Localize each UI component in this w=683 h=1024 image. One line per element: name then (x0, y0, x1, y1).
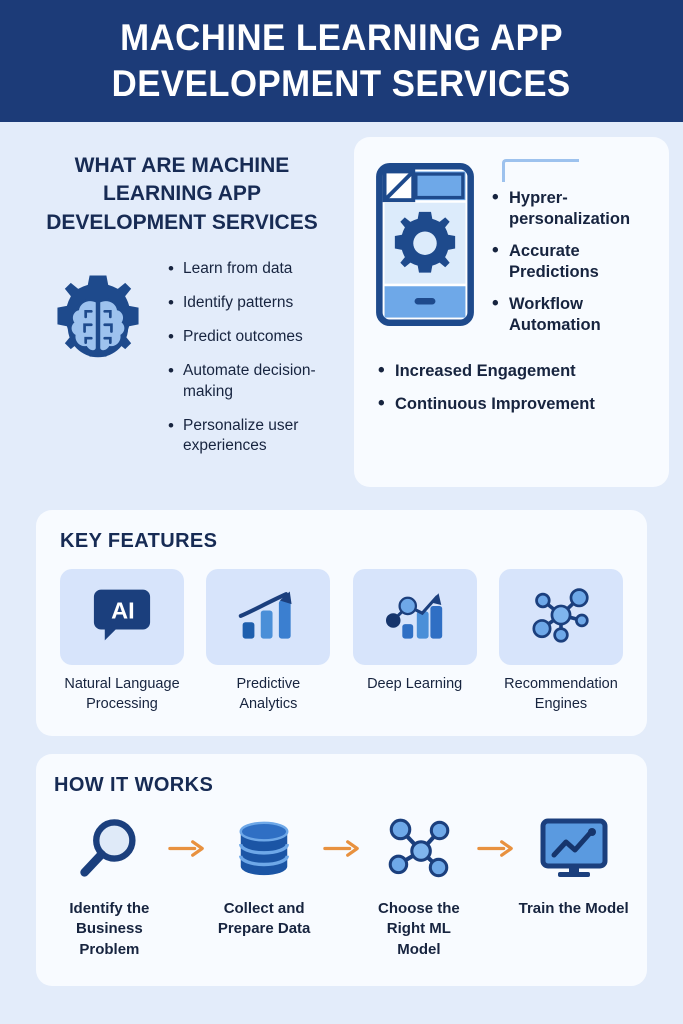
bar-chart-arrow-icon (235, 586, 301, 649)
step-label: Identify the Business Problem (54, 899, 165, 960)
feature-tile: AI (60, 569, 184, 665)
list-item: Learn from data (168, 259, 350, 279)
monitor-chart-icon (539, 818, 609, 885)
key-features-section: KEY FEATURES AI Natural Language Process… (36, 510, 647, 736)
step-icon (518, 813, 629, 889)
corner-bracket-decoration (502, 159, 579, 182)
step-choose-right-ml-model[interactable]: Choose the Right ML Model (364, 813, 475, 960)
list-item: Increased Engagement (378, 361, 653, 382)
feature-natural-language-processing[interactable]: AI Natural Language Processing (60, 569, 184, 714)
benefits-bullets-column: Hyprer-personalization Accurate Predicti… (492, 151, 653, 347)
feature-tile (499, 569, 623, 665)
list-item: Hyprer-personalization (492, 188, 653, 230)
intro-body: Learn from data Identify patterns Predic… (14, 259, 350, 470)
list-item: Personalize user experiences (168, 416, 350, 456)
benefits-card: Hyprer-personalization Accurate Predicti… (354, 137, 669, 487)
feature-tile (353, 569, 477, 665)
ai-chat-bubble-icon: AI (90, 586, 154, 649)
intro-left-column: WHAT ARE MACHINE LEARNING APP DEVELOPMEN… (14, 134, 350, 504)
magnifying-glass-icon (75, 815, 143, 888)
step-identify-business-problem[interactable]: Identify the Business Problem (54, 813, 165, 960)
how-it-works-section: HOW IT WORKS Identify the Business Probl… (36, 754, 647, 986)
step-icon (209, 813, 320, 889)
how-it-works-heading: HOW IT WORKS (54, 774, 629, 797)
list-item: Workflow Automation (492, 294, 653, 336)
list-item: Continuous Improvement (378, 394, 653, 415)
list-item: Predict outcomes (168, 327, 350, 347)
arrow-right-icon (474, 839, 518, 858)
step-icon (364, 813, 475, 889)
list-item: Accurate Predictions (492, 241, 653, 283)
feature-label: Natural Language Processing (60, 675, 184, 714)
network-hub-icon (528, 586, 594, 649)
benefits-top-row: Hyprer-personalization Accurate Predicti… (370, 151, 653, 347)
intro-title: WHAT ARE MACHINE LEARNING APP DEVELOPMEN… (14, 152, 350, 237)
step-icon (54, 813, 165, 889)
how-it-works-steps: Identify the Business Problem (54, 813, 629, 960)
smartphone-gear-icon (374, 161, 482, 333)
step-collect-and-prepare-data[interactable]: Collect and Prepare Data (209, 813, 320, 940)
page-title-line-2: DEVELOPMENT SERVICES (112, 61, 571, 107)
database-icon (233, 818, 295, 885)
key-features-row: AI Natural Language Processing (60, 569, 623, 714)
step-train-the-model[interactable]: Train the Model (518, 813, 629, 919)
arrow-right-icon (320, 839, 364, 858)
list-item: Identify patterns (168, 293, 350, 313)
intro-bullet-list: Learn from data Identify patterns Predic… (154, 259, 350, 470)
page-header: MACHINE LEARNING APP DEVELOPMENT SERVICE… (0, 0, 683, 122)
list-item: Automate decision-making (168, 361, 350, 401)
gear-brain-icon (42, 271, 154, 388)
arrow-right-icon (165, 839, 209, 858)
feature-tile (206, 569, 330, 665)
intro-section: WHAT ARE MACHINE LEARNING APP DEVELOPMEN… (0, 122, 683, 504)
step-label: Collect and Prepare Data (209, 899, 320, 940)
feature-label: Deep Learning (353, 675, 477, 695)
key-features-heading: KEY FEATURES (60, 530, 623, 553)
svg-text:AI: AI (111, 597, 135, 623)
neural-network-chart-icon (382, 586, 448, 649)
network-nodes-icon (382, 816, 456, 887)
feature-label: Recommendation Engines (499, 675, 623, 714)
step-label: Train the Model (518, 899, 629, 919)
feature-deep-learning[interactable]: Deep Learning (353, 569, 477, 714)
page-title-line-1: MACHINE LEARNING APP (120, 15, 563, 61)
benefits-bullet-list-wide: Increased Engagement Continuous Improvem… (370, 361, 653, 415)
feature-recommendation-engines[interactable]: Recommendation Engines (499, 569, 623, 714)
step-label: Choose the Right ML Model (364, 899, 475, 960)
benefits-bullet-list: Hyprer-personalization Accurate Predicti… (492, 188, 653, 336)
feature-label: Predictive Analytics (206, 675, 330, 714)
feature-predictive-analytics[interactable]: Predictive Analytics (206, 569, 330, 714)
